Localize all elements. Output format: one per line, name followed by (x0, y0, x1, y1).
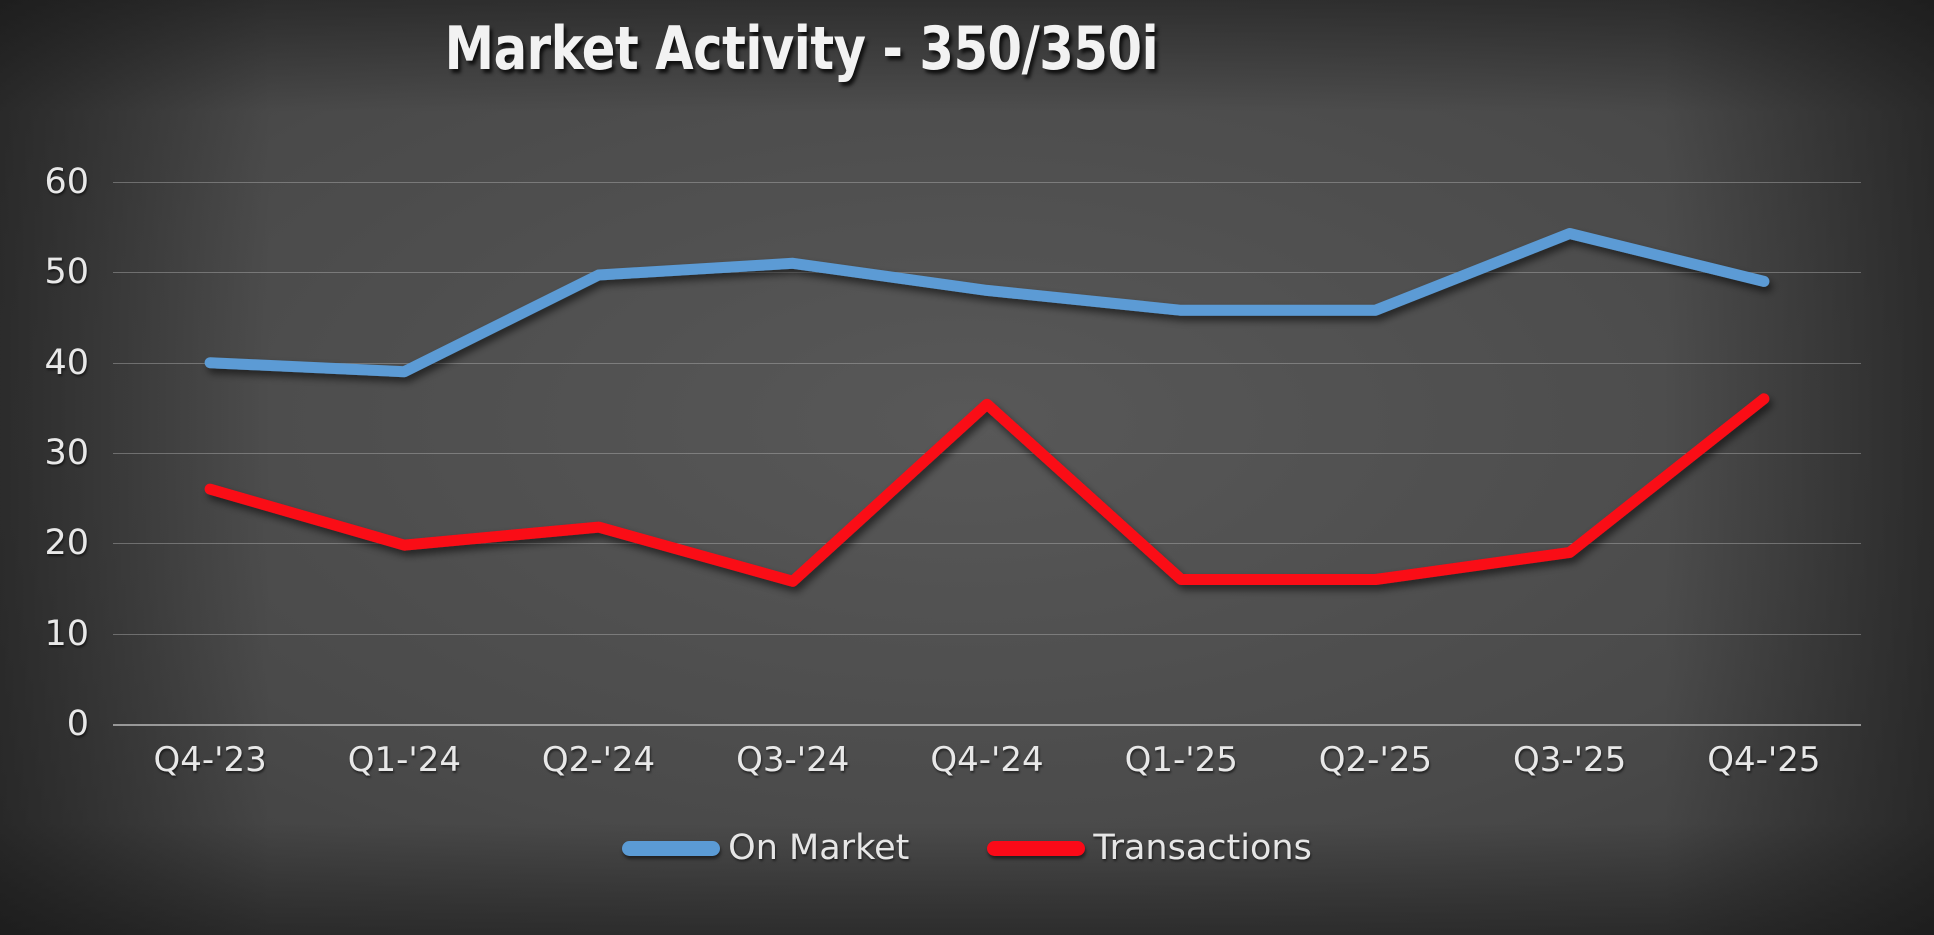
chart-legend: On MarketTransactions (0, 828, 1934, 868)
series-lines (113, 182, 1861, 724)
x-axis-labels: Q4-'23Q1-'24Q2-'24Q3-'24Q4-'24Q1-'25Q2-'… (113, 740, 1861, 796)
series-line-on-market (210, 234, 1764, 372)
x-axis-tick-label: Q3-'24 (696, 740, 890, 796)
y-axis-tick-label: 40 (0, 343, 89, 383)
legend-label: On Market (728, 828, 909, 868)
y-axis-tick-label: 0 (0, 704, 89, 744)
legend-swatch-icon (622, 841, 720, 856)
series-line-transactions (210, 399, 1764, 582)
y-axis-tick-label: 20 (0, 523, 89, 563)
y-axis-tick-label: 30 (0, 433, 89, 473)
legend-label: Transactions (1093, 828, 1311, 868)
x-axis-tick-label: Q2-'24 (501, 740, 695, 796)
x-axis-tick-label: Q4-'25 (1667, 740, 1861, 796)
x-axis-line (113, 724, 1861, 726)
chart-container: Market Activity - 350/350i 6050403020100… (0, 0, 1934, 935)
chart-title: Market Activity - 350/350i (77, 14, 1856, 84)
x-axis-tick-label: Q4-'24 (890, 740, 1084, 796)
legend-item-on-market[interactable]: On Market (622, 828, 909, 868)
x-axis-tick-label: Q4-'23 (113, 740, 307, 796)
x-axis-tick-label: Q2-'25 (1278, 740, 1472, 796)
y-axis-tick-label: 50 (0, 252, 89, 292)
x-axis-tick-label: Q1-'24 (307, 740, 501, 796)
x-axis-tick-label: Q3-'25 (1473, 740, 1667, 796)
y-axis-tick-label: 10 (0, 614, 89, 654)
plot-area (113, 182, 1861, 724)
y-axis-tick-label: 60 (0, 162, 89, 202)
x-axis-tick-label: Q1-'25 (1084, 740, 1278, 796)
legend-swatch-icon (987, 841, 1085, 856)
legend-item-transactions[interactable]: Transactions (987, 828, 1311, 868)
